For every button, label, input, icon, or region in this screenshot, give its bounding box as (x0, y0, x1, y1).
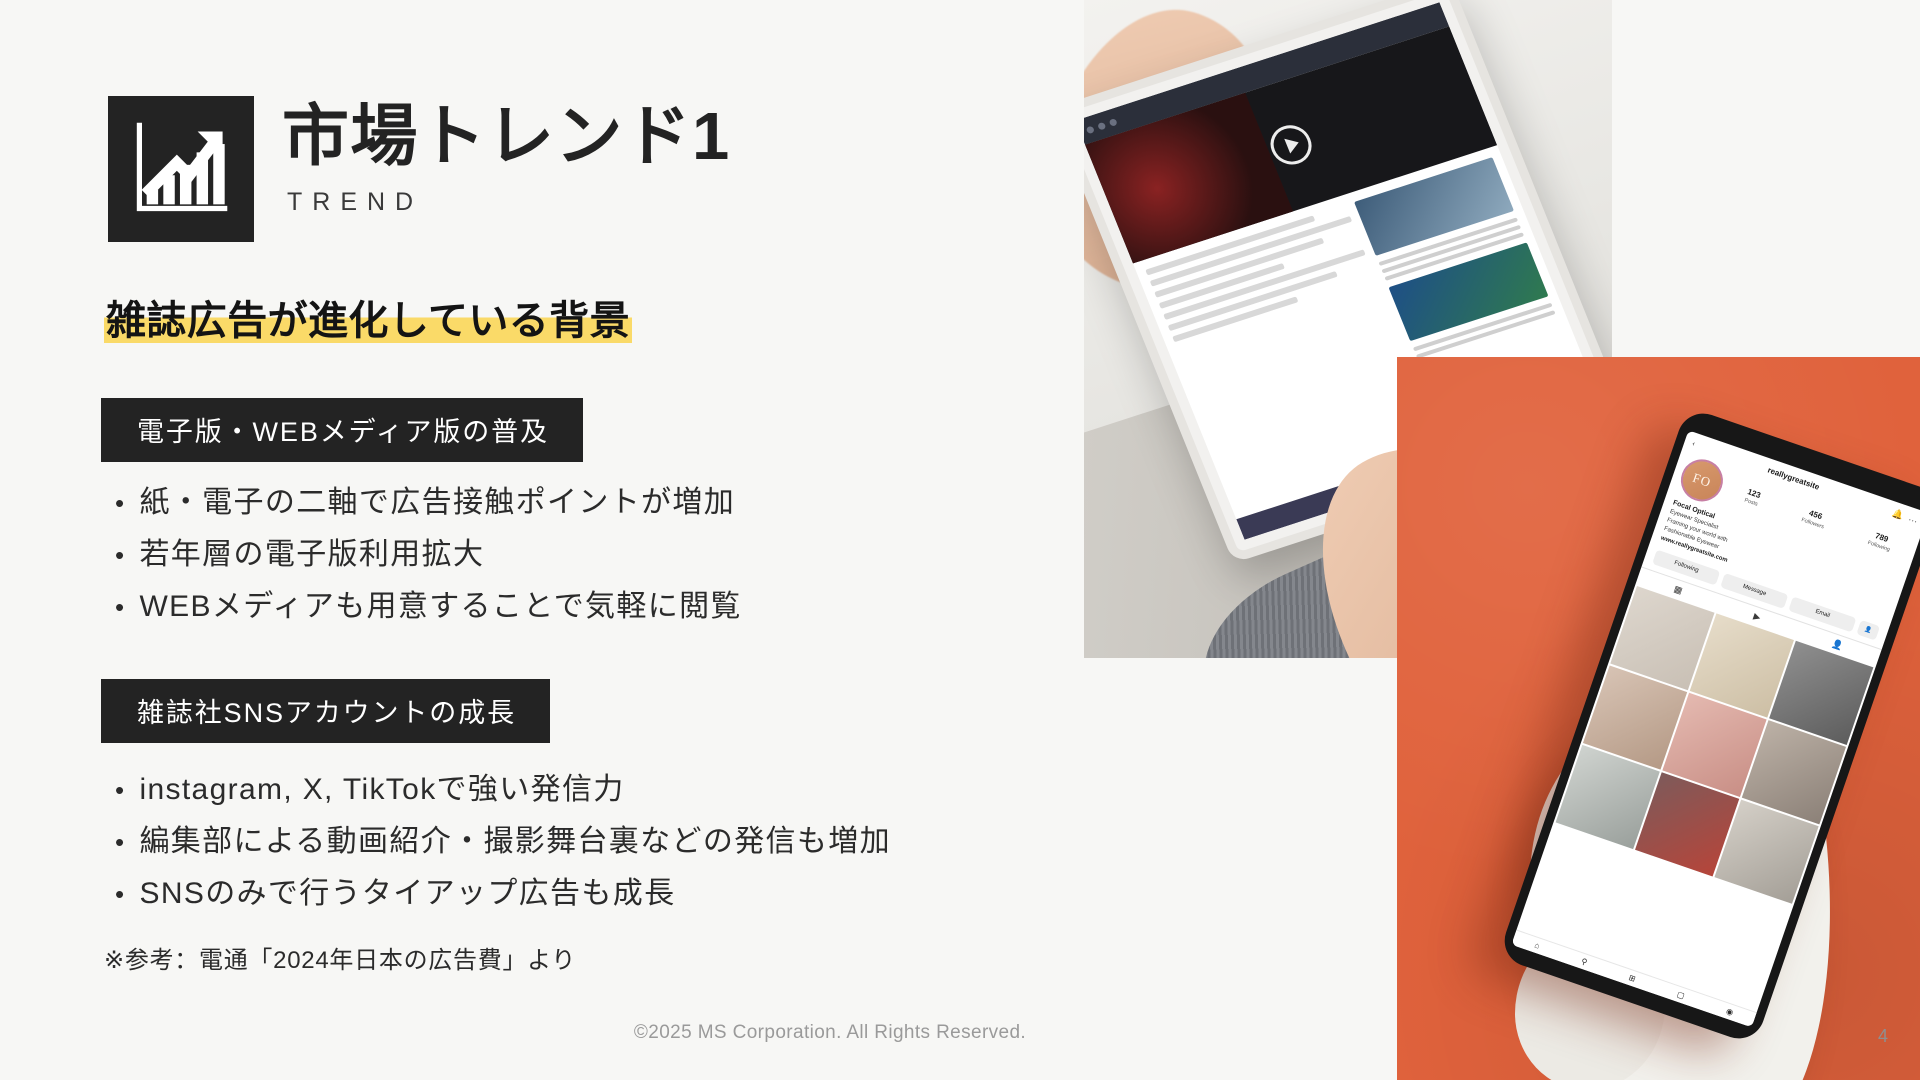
browser-dot-icon (1108, 118, 1117, 127)
trend-logo-box (108, 96, 254, 242)
list-item: •編集部による動画紹介・撮影舞台裏などの発信も増加 (115, 827, 891, 857)
tab-grid-icon[interactable]: ▦ (1672, 583, 1684, 596)
list-item: •instagram, X, TikTokで強い発信力 (115, 775, 891, 805)
avatar: FO (1675, 454, 1728, 507)
tab-reels-icon[interactable]: ▶ (1752, 611, 1762, 624)
list-item-label: WEBメディアも用意することで気軽に閲覧 (139, 592, 741, 622)
page-number: 4 (1878, 1026, 1888, 1047)
page-title: 市場トレンド1 (282, 102, 731, 172)
search-icon[interactable]: ⚲ (1580, 957, 1588, 967)
page-subtitle: TREND (287, 188, 731, 217)
shop-icon[interactable]: ▢ (1676, 990, 1686, 1001)
title-group: 市場トレンド1 TREND (282, 96, 731, 217)
bullet-dot-icon: • (115, 490, 125, 516)
bullet-dot-icon: • (115, 777, 125, 803)
browser-dot-icon (1097, 121, 1106, 130)
add-person-icon[interactable]: 👤 (1856, 620, 1880, 641)
source-footnote: ※参考：電通「2024年日本の広告費」より (104, 940, 576, 975)
bullet-dot-icon: • (115, 594, 125, 620)
section-heading: 雑誌社SNSアカウントの成長 (101, 679, 550, 743)
lead-heading: 雑誌広告が進化している背景 (104, 296, 632, 346)
back-chevron-icon[interactable]: ‹ (1691, 440, 1695, 447)
phone-photo: ‹ reallygreatsite 🔔 ··· FO 123 Posts (1397, 357, 1920, 1080)
browser-dot-icon (1085, 125, 1094, 134)
section-electronic-edition: 電子版・WEBメディア版の普及 •紙・電子の二軸で広告接触ポイントが増加 •若年… (101, 398, 742, 644)
stat-posts: 123 Posts (1743, 487, 1762, 509)
bar-chart-growth-icon (129, 117, 233, 221)
list-item-label: instagram, X, TikTokで強い発信力 (139, 775, 624, 805)
list-item: •SNSのみで行うタイアップ広告も成長 (115, 879, 891, 909)
stat-following: 789 Following (1866, 529, 1894, 554)
bullet-dot-icon: • (115, 542, 125, 568)
play-icon (1264, 120, 1317, 169)
list-item-label: SNSのみで行うタイアップ広告も成長 (139, 879, 675, 909)
list-item-label: 若年層の電子版利用拡大 (139, 540, 484, 570)
list-item: •紙・電子の二軸で広告接触ポイントが増加 (115, 488, 742, 518)
bullet-list: •紙・電子の二軸で広告接触ポイントが増加 •若年層の電子版利用拡大 •WEBメデ… (115, 488, 742, 622)
section-heading: 電子版・WEBメディア版の普及 (101, 398, 583, 462)
profile-avatar-icon[interactable]: ◉ (1725, 1007, 1735, 1018)
slide-header: 市場トレンド1 TREND (108, 96, 731, 242)
list-item: •WEBメディアも用意することで気軽に閲覧 (115, 592, 742, 622)
list-item: •若年層の電子版利用拡大 (115, 540, 742, 570)
slide-root: 市場トレンド1 TREND 雑誌広告が進化している背景 電子版・WEBメディア版… (0, 0, 1920, 1080)
bell-icon[interactable]: 🔔 (1891, 508, 1905, 522)
more-options-icon[interactable]: ··· (1907, 514, 1919, 526)
tab-tagged-icon[interactable]: 👤 (1830, 638, 1844, 652)
list-item-label: 編集部による動画紹介・撮影舞台裏などの発信も増加 (139, 827, 891, 857)
list-item-label: 紙・電子の二軸で広告接触ポイントが増加 (139, 488, 735, 518)
bullet-list: •instagram, X, TikTokで強い発信力 •編集部による動画紹介・… (115, 775, 891, 909)
lead-heading-text: 雑誌広告が進化している背景 (104, 299, 632, 343)
bullet-dot-icon: • (115, 881, 125, 907)
bullet-dot-icon: • (115, 829, 125, 855)
add-post-icon[interactable]: ⊞ (1627, 973, 1636, 984)
section-sns-growth: 雑誌社SNSアカウントの成長 •instagram, X, TikTokで強い発… (101, 679, 891, 931)
stat-followers: 456 Followers (1800, 506, 1828, 531)
home-icon[interactable]: ⌂ (1533, 941, 1541, 951)
